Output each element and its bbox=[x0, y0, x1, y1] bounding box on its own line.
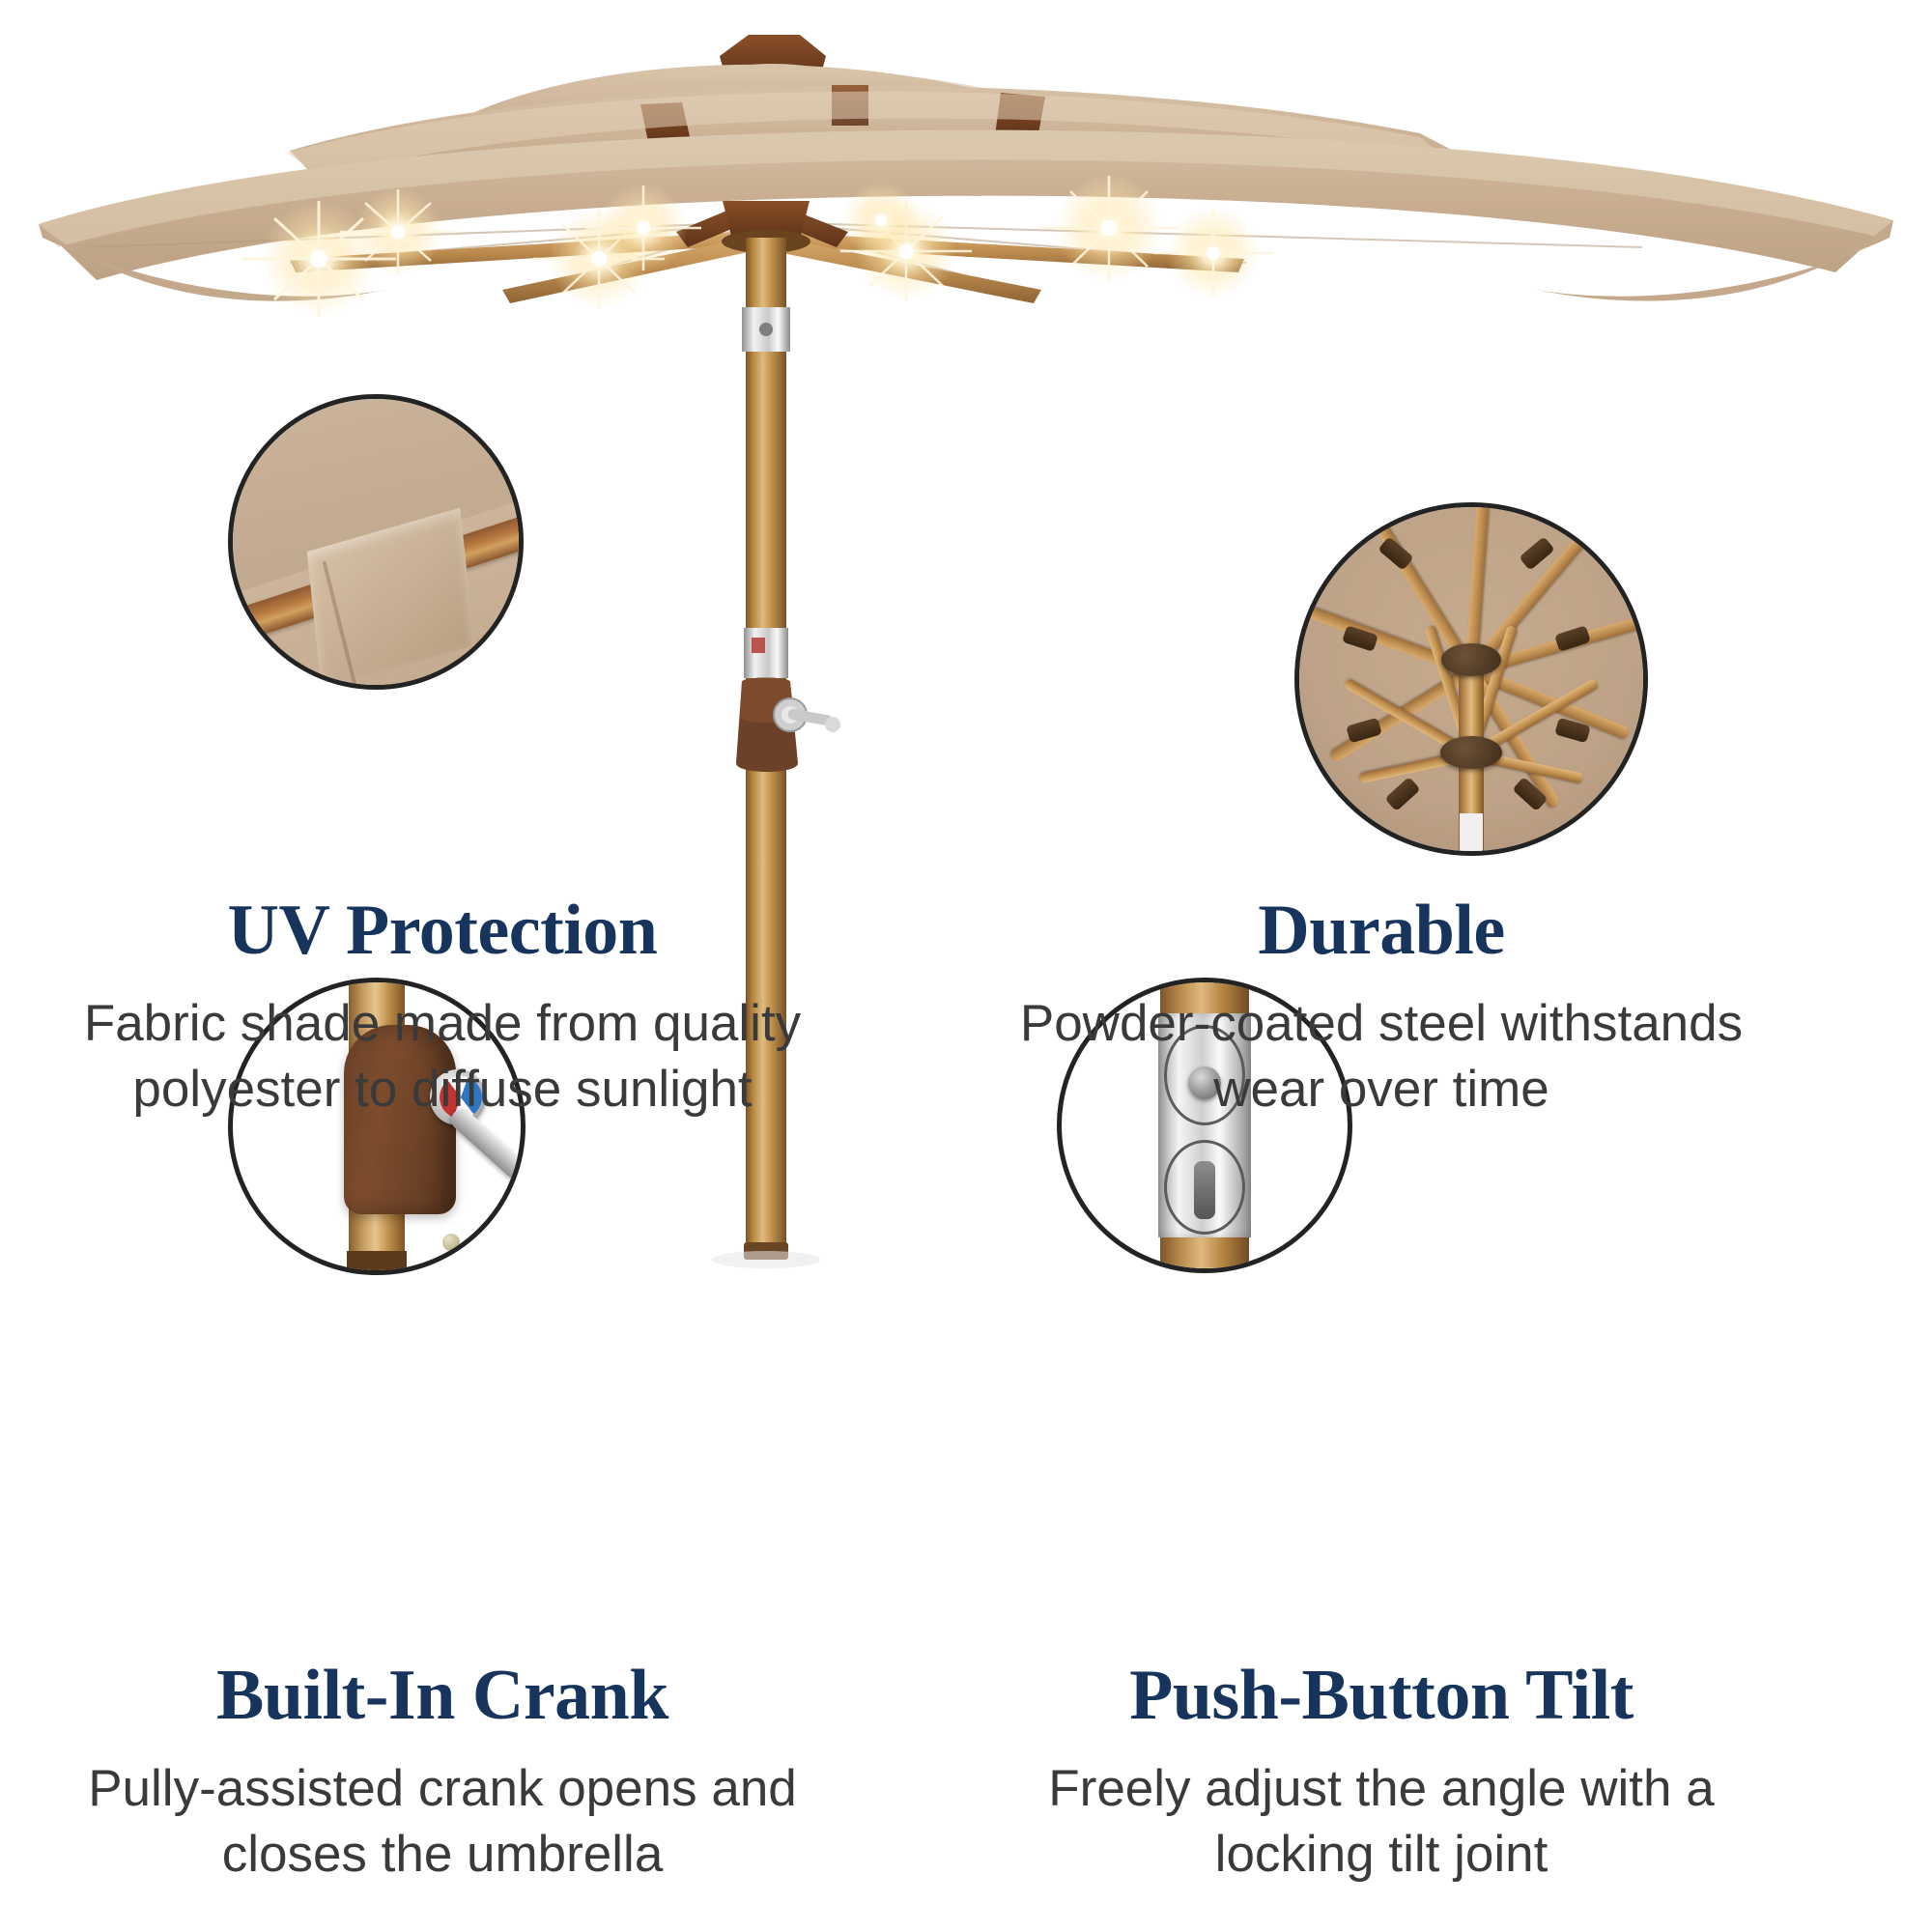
callout-uv-protection bbox=[228, 394, 524, 690]
tilt-pin bbox=[1194, 1161, 1215, 1219]
callout-durable bbox=[1294, 502, 1648, 856]
upper-hub bbox=[1441, 643, 1501, 676]
feature-built-in-crank: Built-In Crank Pully-assisted crank open… bbox=[27, 1660, 858, 1888]
feature-description: Powder-coated steel withstands wear over… bbox=[966, 991, 1797, 1122]
led-light bbox=[842, 182, 920, 259]
feature-durable: Durable Powder-coated steel withstands w… bbox=[966, 895, 1797, 1122]
lower-hub bbox=[1440, 736, 1502, 769]
led-light bbox=[1153, 207, 1273, 299]
feature-description-line: Pully-assisted crank opens and bbox=[27, 1756, 858, 1822]
feature-description: Freely adjust the angle with a locking t… bbox=[966, 1756, 1797, 1888]
feature-description-line: Freely adjust the angle with a bbox=[966, 1756, 1797, 1822]
feature-description-line: closes the umbrella bbox=[27, 1822, 858, 1888]
pole-label-band bbox=[1460, 813, 1483, 856]
infographic-canvas: UV Protection Fabric shade made from qua… bbox=[0, 0, 1932, 1932]
feature-description: Pully-assisted crank opens and closes th… bbox=[27, 1756, 858, 1888]
feature-description-line: wear over time bbox=[966, 1057, 1797, 1122]
feature-title: UV Protection bbox=[27, 895, 858, 966]
feature-title: Built-In Crank bbox=[27, 1660, 858, 1731]
feature-title: Durable bbox=[966, 895, 1797, 966]
feature-title: Push-Button Tilt bbox=[966, 1660, 1797, 1731]
feature-push-button-tilt: Push-Button Tilt Freely adjust the angle… bbox=[966, 1660, 1797, 1888]
feature-description: Fabric shade made from quality polyester… bbox=[27, 991, 858, 1122]
feature-description-line: locking tilt joint bbox=[966, 1822, 1797, 1888]
pole-lower-ferrule bbox=[347, 1251, 407, 1275]
feature-description-line: Fabric shade made from quality bbox=[27, 991, 858, 1057]
housing-screw bbox=[442, 1234, 460, 1251]
feature-description-line: polyester to diffuse sunlight bbox=[27, 1057, 858, 1122]
feature-description-line: Powder-coated steel withstands bbox=[966, 991, 1797, 1057]
feature-uv-protection: UV Protection Fabric shade made from qua… bbox=[27, 895, 858, 1122]
